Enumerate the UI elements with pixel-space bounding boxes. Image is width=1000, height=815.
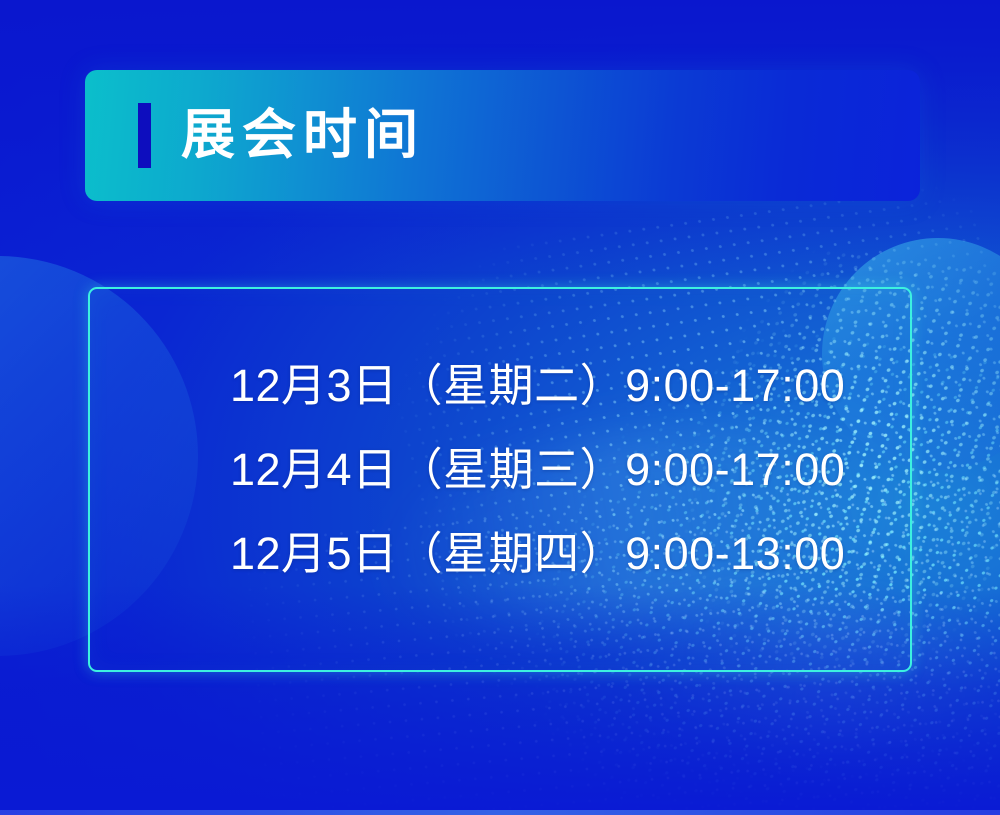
schedule-frame: 12月3日（星期二）9:00-17:00 12月4日（星期三）9:00-17:0… bbox=[88, 287, 912, 672]
page-title: 展会时间 bbox=[181, 98, 425, 172]
background-bottom-strip bbox=[0, 810, 1000, 815]
schedule-list: 12月3日（星期二）9:00-17:00 12月4日（星期三）9:00-17:0… bbox=[230, 361, 845, 579]
list-item: 12月4日（星期三）9:00-17:00 bbox=[230, 445, 845, 495]
exhibition-time-poster: 展会时间 12月3日（星期二）9:00-17:00 12月4日（星期三）9:00… bbox=[0, 0, 1000, 815]
list-item: 12月5日（星期四）9:00-13:00 bbox=[230, 529, 845, 579]
section-header-banner: 展会时间 bbox=[85, 70, 920, 201]
header-accent-bar bbox=[138, 103, 151, 168]
list-item: 12月3日（星期二）9:00-17:00 bbox=[230, 361, 845, 411]
